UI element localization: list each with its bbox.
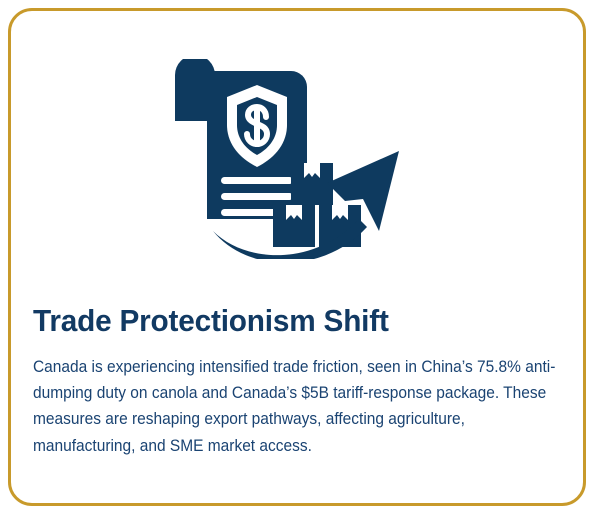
cargo-box-top [291, 163, 333, 205]
info-card: Trade Protectionism Shift Canada is expe… [8, 8, 586, 506]
card-text-block: Trade Protectionism Shift Canada is expe… [33, 303, 557, 459]
document-line-2 [221, 193, 293, 200]
card-illustration [11, 51, 583, 266]
card-description: Canada is experiencing intensified trade… [33, 339, 562, 459]
trade-document-shield-boxes-arrow-icon [167, 59, 427, 259]
cargo-box-bottom-left [273, 205, 315, 247]
page-title: Trade Protectionism Shift [33, 303, 536, 339]
document-line-1 [221, 177, 293, 184]
